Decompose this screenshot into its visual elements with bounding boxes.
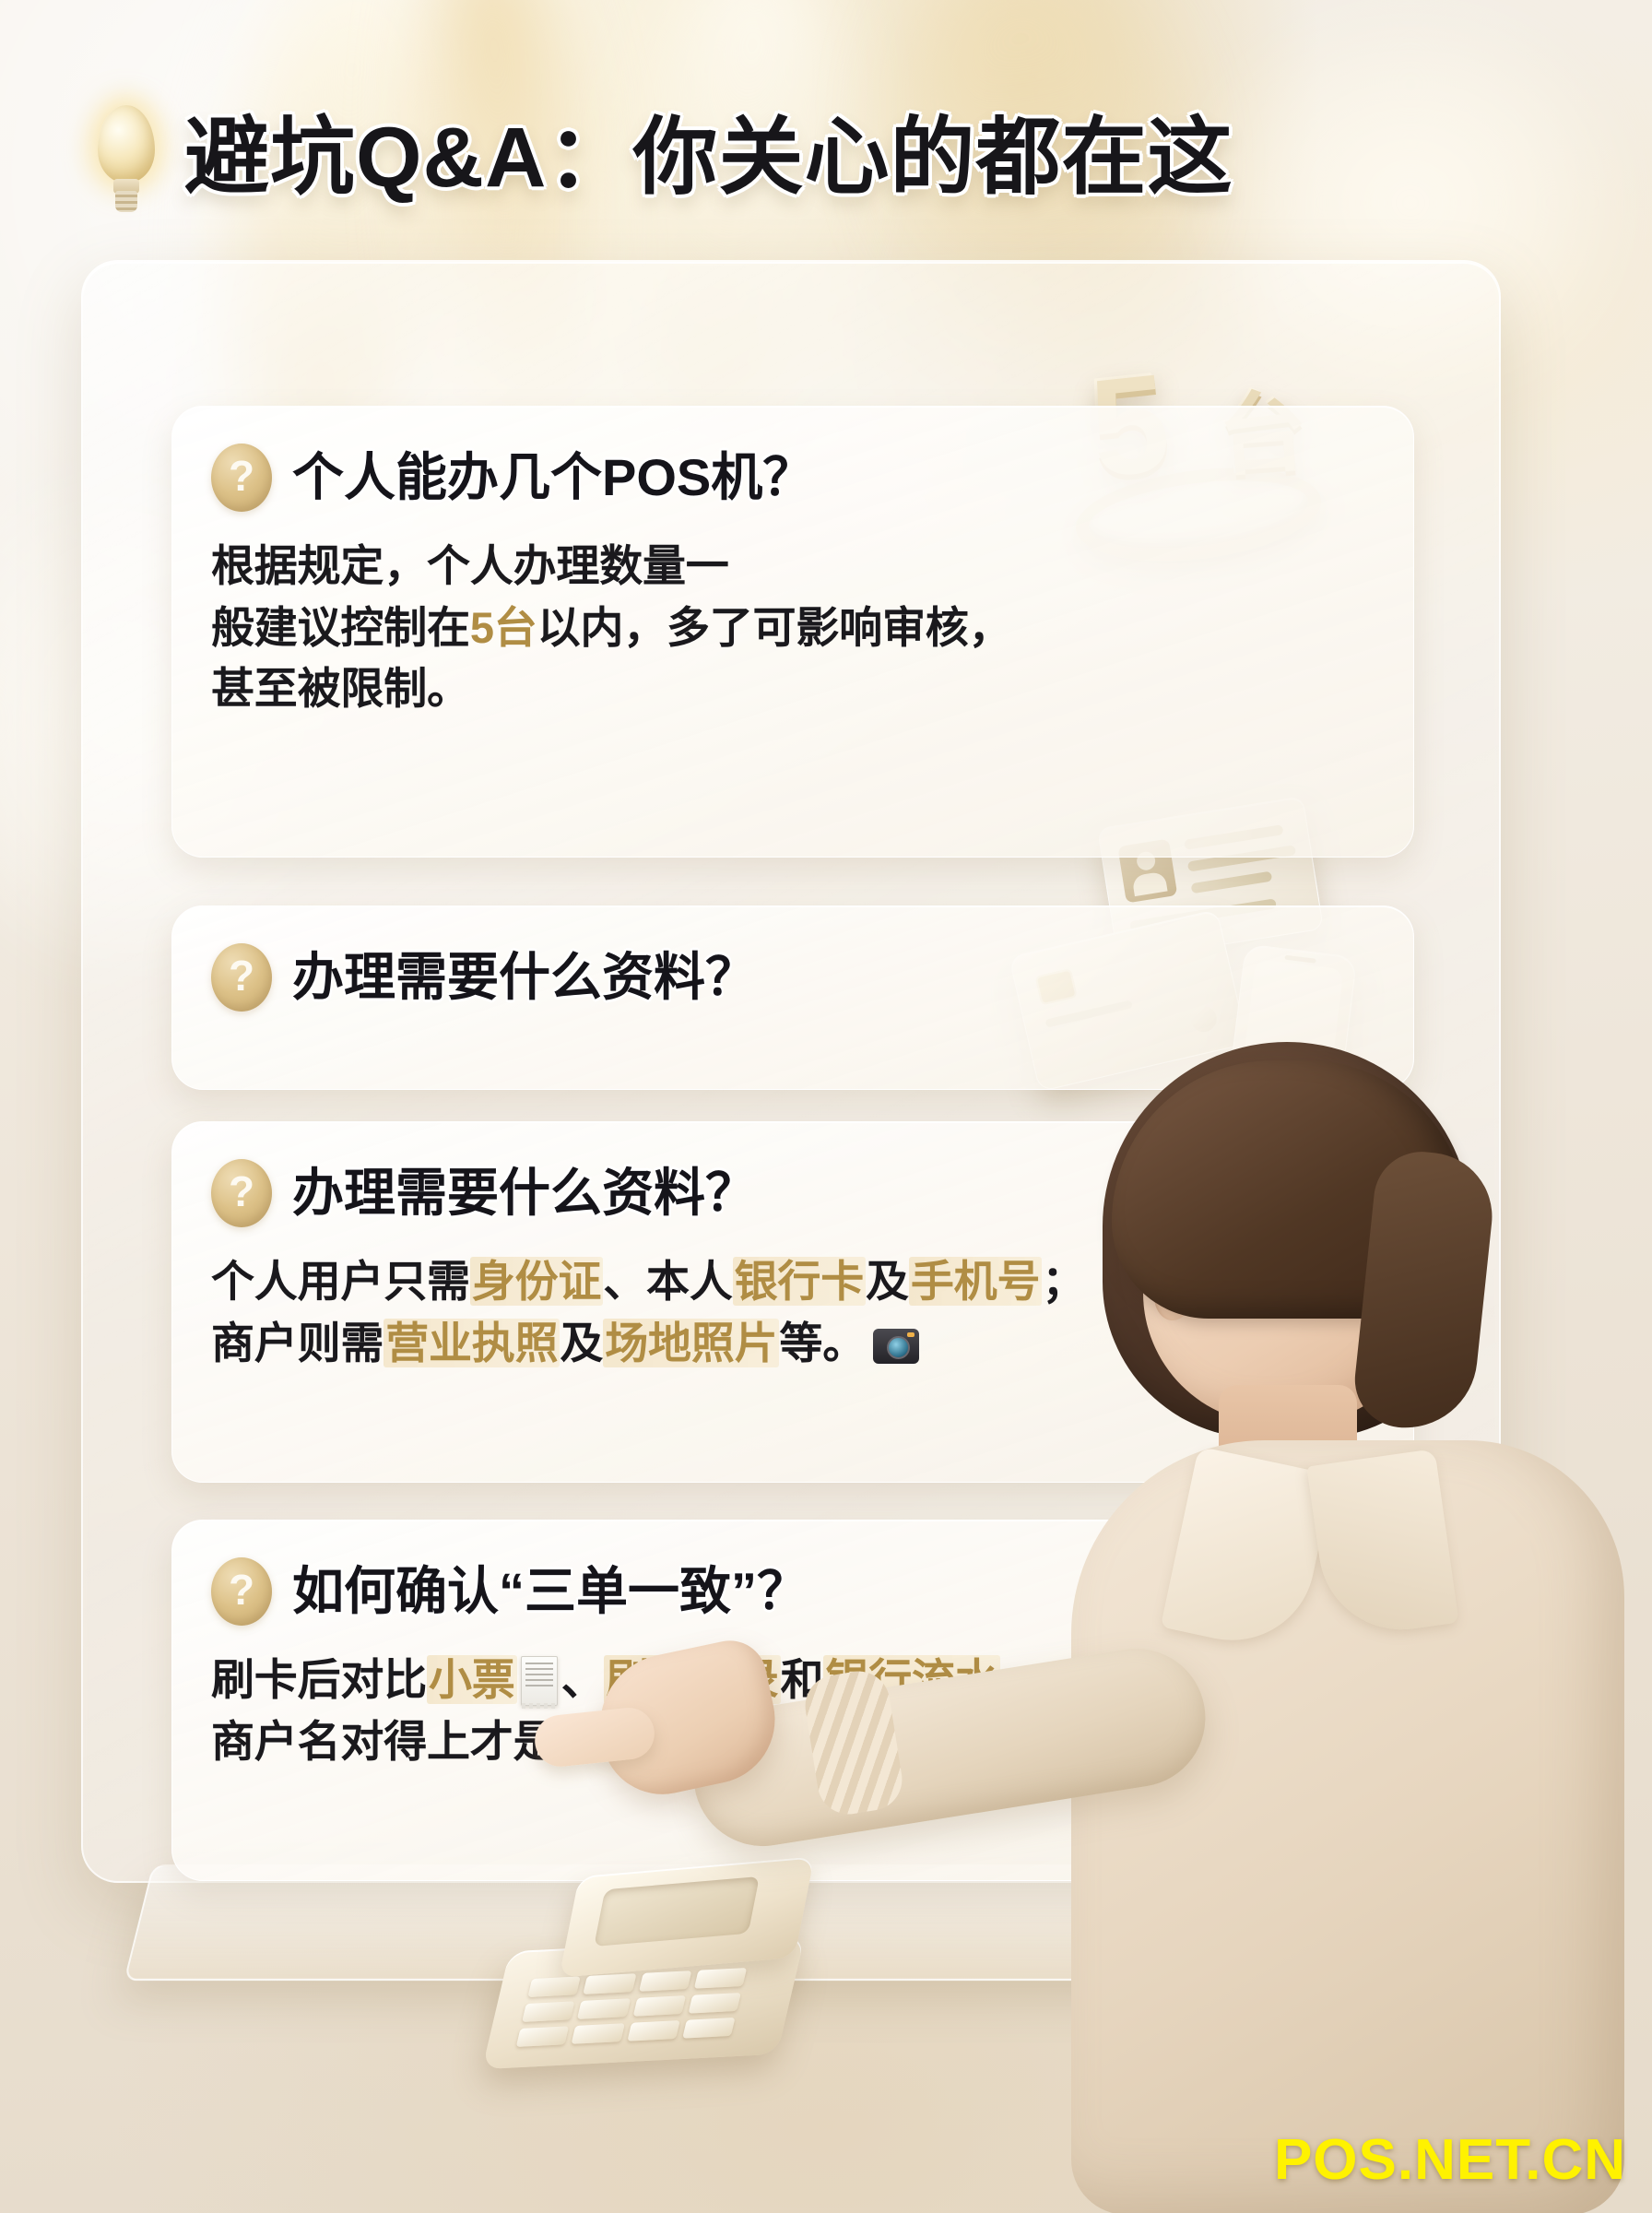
answer-segment: 以内，多了可影响审核， bbox=[537, 603, 1012, 652]
faq-card-1[interactable]: ? 个人能办几个POS机？ 根据规定，个人办理数量一 般建议控制在5台以内，多了… bbox=[171, 406, 1414, 858]
page-title: 避坑Q&A：你关心的都在这 bbox=[184, 115, 1233, 200]
question-mark-icon: ? bbox=[211, 1557, 272, 1626]
question-mark-icon: ? bbox=[211, 1159, 272, 1227]
person-figure bbox=[931, 1042, 1652, 2213]
question-title: 如何确认“三单一致”？ bbox=[292, 1563, 808, 1621]
lightbulb-icon bbox=[88, 103, 164, 212]
answer-segment: 刷卡后对比 bbox=[211, 1655, 427, 1704]
answer-text: 根据规定，个人办理数量一 般建议控制在5台以内，多了可影响审核， 甚至被限制。 bbox=[211, 536, 1371, 720]
answer-segment: 商户则需 bbox=[211, 1319, 383, 1367]
answer-segment: 及 bbox=[866, 1257, 909, 1306]
highlight-5tai: 5台 bbox=[470, 603, 537, 652]
question-title: 个人能办几个POS机？ bbox=[292, 449, 814, 507]
answer-segment: 般建议控制在 bbox=[211, 603, 470, 652]
highlight-id-card: 身份证 bbox=[470, 1257, 603, 1306]
pos-keypad bbox=[516, 1968, 747, 2047]
highlight-receipt: 小票 bbox=[427, 1655, 517, 1704]
question-title: 办理需要什么资料？ bbox=[292, 1165, 757, 1223]
watermark-text: POS.NET.CN bbox=[1274, 2127, 1626, 2193]
answer-segment: 及 bbox=[560, 1319, 603, 1367]
highlight-site-photo: 场地照片 bbox=[603, 1319, 779, 1367]
question-row: ? 个人能办几个POS机？ bbox=[211, 444, 1371, 512]
highlight-business-license: 营业执照 bbox=[383, 1319, 560, 1367]
answer-segment: 、 bbox=[561, 1655, 605, 1704]
question-mark-icon: ? bbox=[211, 444, 272, 512]
highlight-bank-card: 银行卡 bbox=[733, 1257, 866, 1306]
answer-segment: 甚至被限制。 bbox=[211, 664, 470, 713]
question-mark-icon: ? bbox=[211, 943, 272, 1012]
page-header: 避坑Q&A：你关心的都在这 bbox=[88, 89, 1195, 227]
question-row: ? 办理需要什么资料？ bbox=[211, 943, 1371, 1012]
answer-segment: 、本人 bbox=[603, 1257, 732, 1306]
answer-segment: 根据规定，个人办理数量一 bbox=[211, 541, 729, 590]
receipt-icon bbox=[521, 1656, 558, 1706]
answer-segment: 个人用户只需 bbox=[211, 1257, 470, 1306]
question-title: 办理需要什么资料？ bbox=[292, 949, 757, 1007]
answer-segment: 等。 bbox=[779, 1319, 866, 1367]
pos-terminal-icon bbox=[498, 1863, 867, 2075]
camera-icon bbox=[873, 1329, 919, 1364]
